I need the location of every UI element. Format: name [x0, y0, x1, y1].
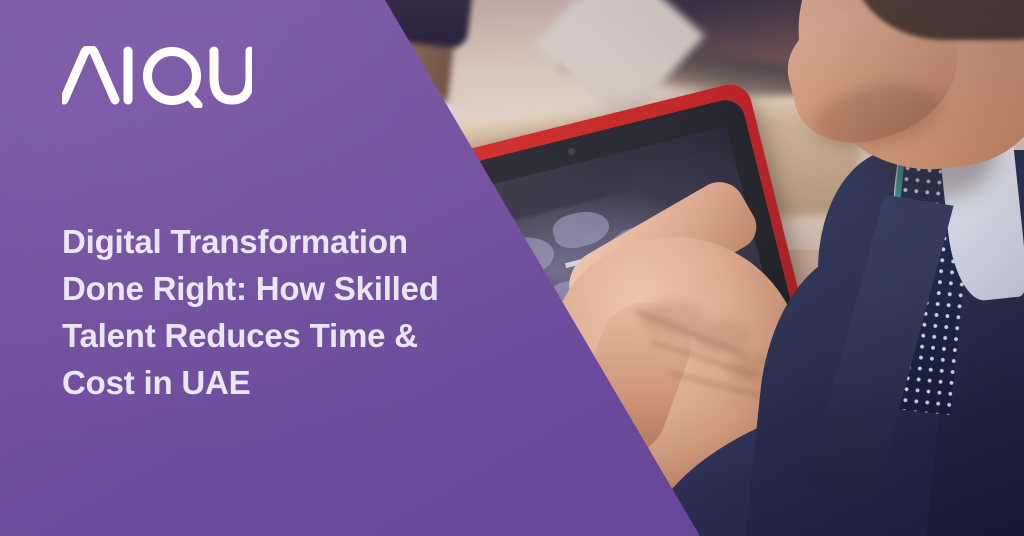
headline-line-3: Talent Reduces Time &: [62, 312, 492, 359]
aiqu-logo[interactable]: [62, 46, 252, 108]
aiqu-wordmark-logo: [62, 46, 252, 108]
tablet-camera-icon: [567, 148, 575, 156]
promo-banner: Digital Transformation Done Right: How S…: [0, 0, 1024, 536]
headline-line-1: Digital Transformation: [62, 218, 492, 265]
headline-line-2: Done Right: How Skilled: [62, 265, 492, 312]
headline: Digital Transformation Done Right: How S…: [62, 218, 492, 406]
headline-line-4: Cost in UAE: [62, 359, 492, 406]
